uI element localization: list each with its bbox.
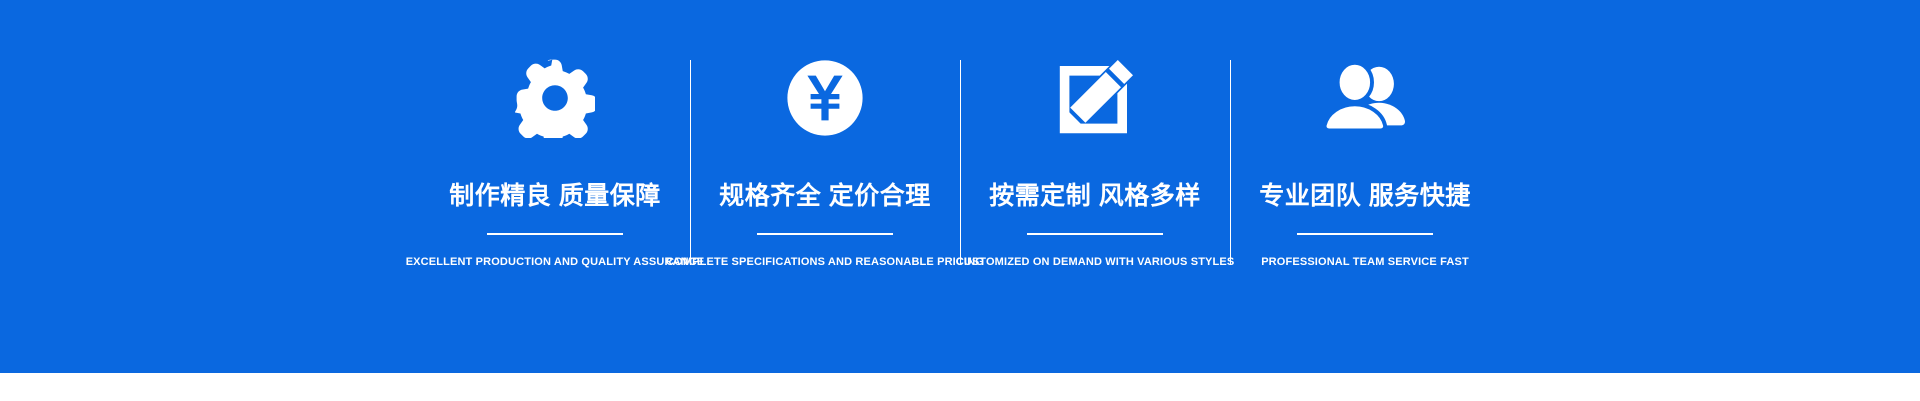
feature-subline: PROFESSIONAL TEAM SERVICE FAST [1261,257,1469,268]
feature-list: 制作精良 质量保障 EXCELLENT PRODUCTION AND QUALI… [0,0,1920,373]
feature-item-team[interactable]: 专业团队 服务快捷 PROFESSIONAL TEAM SERVICE FAST [1230,0,1500,373]
feature-rule [757,233,893,235]
feature-headline: 制作精良 质量保障 [449,184,660,209]
feature-item-pricing[interactable]: 规格齐全 定价合理 COMPLETE SPECIFICATIONS AND RE… [690,0,960,373]
feature-rule [487,233,623,235]
page-bottom-strip [0,373,1920,401]
feature-rule [1027,233,1163,235]
feature-banner: 制作精良 质量保障 EXCELLENT PRODUCTION AND QUALI… [0,0,1920,373]
feature-subline: EXCELLENT PRODUCTION AND QUALITY ASSURAN… [406,257,705,268]
feature-headline: 规格齐全 定价合理 [719,184,930,209]
feature-headline: 按需定制 风格多样 [989,184,1200,209]
feature-subline: CUSTOMIZED ON DEMAND WITH VARIOUS STYLES [956,257,1235,268]
feature-headline: 专业团队 服务快捷 [1259,184,1470,209]
gear-icon [515,52,595,144]
edit-pencil-icon [1055,52,1135,144]
feature-item-production[interactable]: 制作精良 质量保障 EXCELLENT PRODUCTION AND QUALI… [420,0,690,373]
feature-rule [1297,233,1433,235]
feature-subline: COMPLETE SPECIFICATIONS AND REASONABLE P… [666,257,984,268]
yen-circle-icon [785,52,865,144]
feature-item-customization[interactable]: 按需定制 风格多样 CUSTOMIZED ON DEMAND WITH VARI… [960,0,1230,373]
users-team-icon [1322,52,1408,144]
